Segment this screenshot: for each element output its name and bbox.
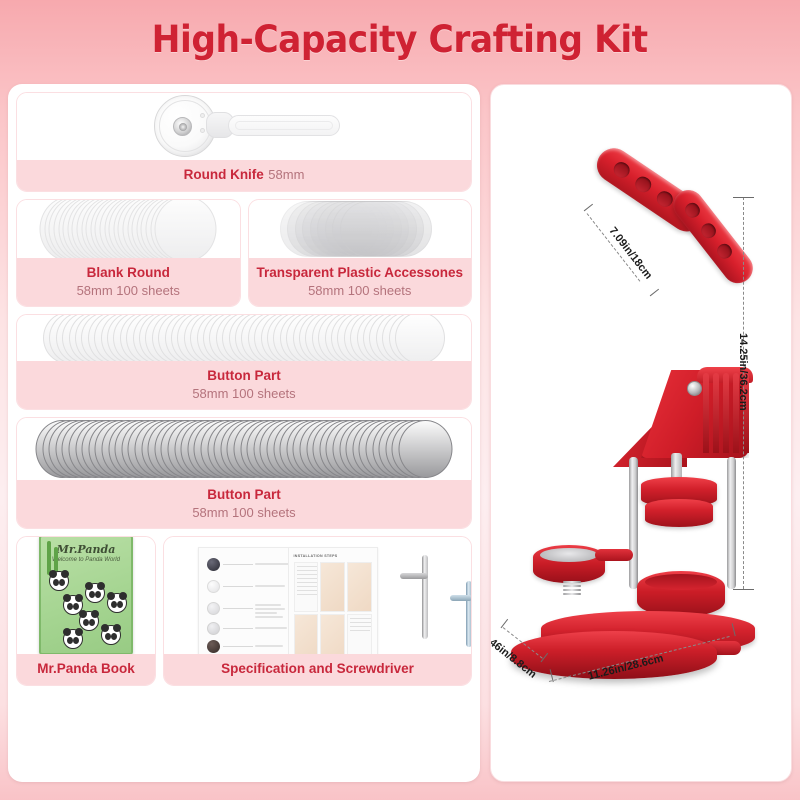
item-label: Button Part — [207, 487, 281, 502]
item-card-panda-book[interactable]: Mr.Panda Welcome to Panda World — [16, 536, 156, 686]
white-button-shell-stack-icon — [43, 315, 445, 361]
row-book-and-spec: Mr.Panda Welcome to Panda World — [16, 536, 472, 686]
content-panels: Round Knife 58mm Blank Round 58mm 100 sh… — [8, 84, 792, 782]
header: High-Capacity Crafting Kit — [0, 0, 800, 78]
page-title: High-Capacity Crafting Kit — [152, 18, 648, 61]
spring-left — [563, 581, 581, 595]
item-spec: 58mm 100 sheets — [253, 283, 468, 300]
button-part-2-image — [17, 418, 471, 480]
item-spec: 58mm 100 sheets — [21, 505, 467, 522]
button-badge-press-machine: 7.09in/18cm 14.25in/36.2cm 3.46in/8.8cm … — [491, 85, 791, 781]
item-label: Blank Round — [87, 265, 170, 280]
item-caption-button-part-2: Button Part 58mm 100 sheets — [17, 480, 471, 528]
item-spec: 58mm 100 sheets — [21, 386, 467, 403]
item-label: Specification and Screwdriver — [221, 661, 414, 676]
paper-disc-stack-icon — [40, 200, 217, 258]
manual-step-image — [320, 562, 345, 612]
accessories-panel: Round Knife 58mm Blank Round 58mm 100 sh… — [8, 84, 480, 782]
item-caption-button-part-1: Button Part 58mm 100 sheets — [17, 361, 471, 409]
transparent-plastic-image — [249, 200, 472, 258]
item-label: Mr.Panda Book — [37, 661, 135, 676]
panda-book-image: Mr.Panda Welcome to Panda World — [17, 537, 155, 654]
dimension-label: 7.09in/18cm — [607, 225, 655, 282]
rotary-cutter-icon — [144, 95, 344, 157]
button-part-1-image — [17, 315, 471, 361]
manual-step-image — [320, 614, 345, 654]
hex-key-small-icon — [450, 581, 471, 654]
round-knife-image — [17, 93, 471, 160]
item-caption-blank-round: Blank Round 58mm 100 sheets — [17, 258, 240, 306]
manual-heading: INSTALLATION STEPS — [294, 554, 373, 558]
item-label: Button Part — [207, 368, 281, 383]
sticker-book-icon: Mr.Panda Welcome to Panda World — [39, 537, 133, 654]
manual-page-left — [199, 548, 288, 654]
hex-key-large-icon — [400, 555, 436, 651]
manual-step-image — [294, 614, 319, 654]
plastic-film-stack-icon — [280, 201, 440, 257]
upper-die-bottom — [645, 499, 713, 527]
item-spec: 58mm — [268, 167, 304, 182]
manual-text-cell — [294, 562, 319, 612]
press-pivot-screw — [687, 381, 702, 396]
item-card-button-part-2[interactable]: Button Part 58mm 100 sheets — [16, 417, 472, 529]
manual-step-image — [347, 562, 372, 612]
item-card-spec-screwdriver[interactable]: INSTALLATION STEPS — [163, 536, 472, 686]
product-image-panel: 7.09in/18cm 14.25in/36.2cm 3.46in/8.8cm … — [490, 84, 792, 782]
lower-die-left — [533, 545, 605, 583]
item-caption-round-knife: Round Knife 58mm — [17, 160, 471, 191]
guide-post-right — [727, 457, 736, 589]
manual-text-cell — [347, 614, 372, 654]
instruction-manual-icon: INSTALLATION STEPS — [198, 547, 378, 654]
guide-post-left — [629, 457, 638, 589]
dimension-label: 14.25in/36.2cm — [737, 333, 749, 411]
item-card-round-knife[interactable]: Round Knife 58mm — [16, 92, 472, 192]
item-label: Round Knife — [184, 167, 264, 182]
item-card-blank-round[interactable]: Blank Round 58mm 100 sheets — [16, 199, 241, 307]
item-label: Transparent Plastic Accessones — [256, 265, 463, 280]
item-caption-transparent-plastic: Transparent Plastic Accessones 58mm 100 … — [249, 258, 472, 306]
spec-screwdriver-image: INSTALLATION STEPS — [164, 537, 471, 654]
item-card-button-part-1[interactable]: Button Part 58mm 100 sheets — [16, 314, 472, 410]
item-card-transparent-plastic[interactable]: Transparent Plastic Accessones 58mm 100 … — [248, 199, 473, 307]
item-spec: 58mm 100 sheets — [21, 283, 236, 300]
manual-page-right: INSTALLATION STEPS — [288, 548, 378, 654]
press-handle-lower[interactable] — [667, 184, 758, 289]
metal-button-back-stack-icon — [36, 420, 453, 478]
blank-round-image — [17, 200, 240, 258]
row-blank-and-plastic: Blank Round 58mm 100 sheets Transparent … — [16, 199, 472, 307]
item-caption-spec-screwdriver: Specification and Screwdriver — [164, 654, 471, 685]
swivel-arm — [595, 549, 633, 561]
item-caption-panda-book: Mr.Panda Book — [17, 654, 155, 685]
